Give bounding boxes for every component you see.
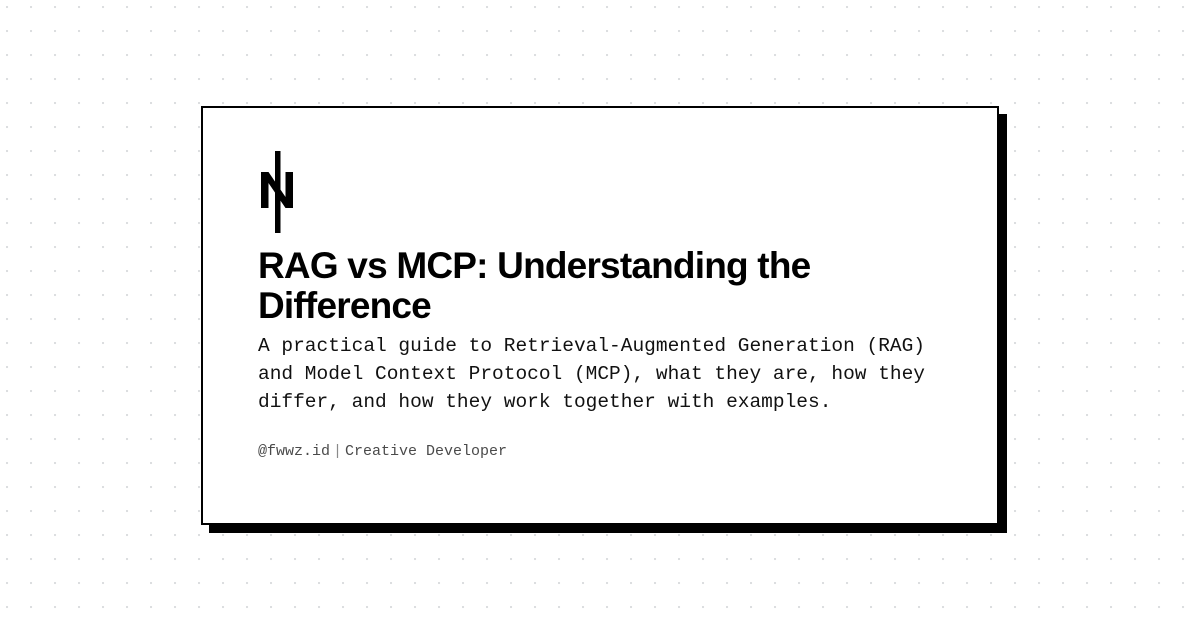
content-card-wrapper: RAG vs MCP: Understanding the Difference… — [201, 106, 999, 525]
content-card: RAG vs MCP: Understanding the Difference… — [201, 106, 999, 525]
page-title: RAG vs MCP: Understanding the Difference — [258, 246, 828, 326]
og-image-canvas: RAG vs MCP: Understanding the Difference… — [0, 0, 1200, 630]
page-description: A practical guide to Retrieval-Augmented… — [258, 332, 955, 416]
n-monogram-logo-icon — [258, 146, 304, 238]
author-role: Creative Developer — [345, 443, 507, 460]
author-attribution: @fwwz.id|Creative Developer — [258, 442, 955, 462]
author-handle: @fwwz.id — [258, 443, 330, 460]
attribution-separator: | — [330, 443, 345, 460]
card-body: RAG vs MCP: Understanding the Difference… — [258, 146, 955, 462]
